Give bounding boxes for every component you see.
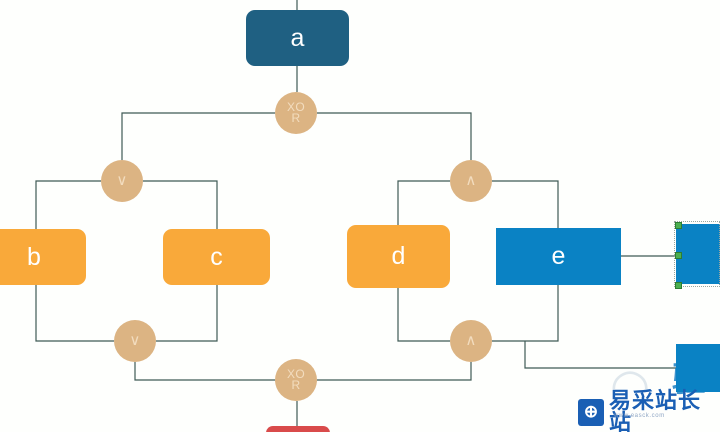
- gate-label-and-right: ∧: [465, 174, 476, 188]
- connector-w-or-b: [36, 181, 101, 229]
- connector-w-xor-left: [122, 113, 275, 160]
- connector-w-xor-right: [317, 113, 471, 160]
- connector-w-andb-xorb: [317, 362, 471, 380]
- node-label-b: b: [27, 245, 41, 270]
- resize-handle-0[interactable]: [675, 222, 682, 229]
- connector-w-orb-xorb: [135, 362, 275, 380]
- node-b[interactable]: b: [0, 229, 86, 285]
- gate-or-bottom[interactable]: ∨: [114, 320, 156, 362]
- node-a[interactable]: a: [246, 10, 349, 66]
- gate-xor-top[interactable]: XO R: [275, 92, 317, 134]
- gate-and-right[interactable]: ∧: [450, 160, 492, 202]
- resize-handle-1[interactable]: [675, 252, 682, 259]
- gate-label-xor-bottom: XO R: [287, 369, 305, 392]
- diagram-canvas[interactable]: ◠ 验 abcde XO R∨∧∨∧XO R ⊕ 易采站长站 www.easck…: [0, 0, 720, 432]
- node-label-e: e: [552, 244, 566, 269]
- node-h[interactable]: [266, 426, 330, 432]
- gate-label-or-bottom: ∨: [129, 334, 140, 348]
- gate-label-or-left: ∨: [116, 174, 127, 188]
- node-label-c: c: [210, 245, 223, 270]
- gate-or-left[interactable]: ∨: [101, 160, 143, 202]
- connector-w-c-orb: [156, 285, 217, 341]
- connector-w-and-d: [398, 181, 450, 225]
- watermark-subtitle: www.easck.com: [614, 413, 665, 419]
- gate-xor-bottom[interactable]: XO R: [275, 359, 317, 401]
- connector-w-andb-g: [525, 341, 676, 368]
- node-d[interactable]: d: [347, 225, 450, 288]
- watermark-logo-icon: ⊕: [578, 399, 604, 426]
- connector-w-d-andb: [398, 288, 450, 341]
- connector-w-and-e: [492, 181, 558, 228]
- node-c[interactable]: c: [163, 229, 270, 285]
- connector-w-e-andb: [492, 285, 558, 341]
- gate-label-and-bottom: ∧: [465, 334, 476, 348]
- watermark-brand-text: 易采站长站: [609, 390, 720, 432]
- node-label-d: d: [392, 244, 406, 269]
- connector-w-or-c: [143, 181, 217, 229]
- watermark: ⊕ 易采站长站 www.easck.com: [578, 390, 720, 432]
- resize-handle-2[interactable]: [675, 282, 682, 289]
- node-e[interactable]: e: [496, 228, 621, 285]
- connector-w-b-orb: [36, 285, 114, 341]
- node-g[interactable]: [676, 344, 720, 392]
- gate-label-xor-top: XO R: [287, 102, 305, 125]
- gate-and-bottom[interactable]: ∧: [450, 320, 492, 362]
- node-label-a: a: [291, 26, 305, 51]
